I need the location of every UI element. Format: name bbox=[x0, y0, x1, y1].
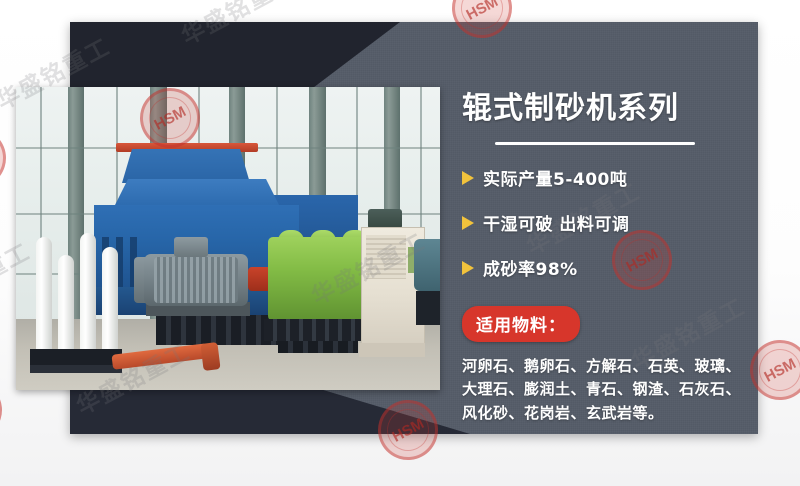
feature-item: 实际产量5-400吨 bbox=[462, 165, 752, 190]
feature-label: 实际产量5-400吨 bbox=[483, 165, 627, 190]
arrow-right-icon bbox=[462, 216, 474, 230]
right-motor-stand bbox=[416, 291, 440, 325]
title-divider bbox=[495, 142, 695, 145]
shaft-flange bbox=[200, 342, 220, 371]
accumulator-frame-lower bbox=[30, 365, 122, 373]
motor-cooling-fins bbox=[154, 257, 238, 303]
motor-terminal-box bbox=[174, 237, 208, 257]
watermark-seal: HSM bbox=[0, 369, 13, 450]
hydraulic-accumulator bbox=[36, 237, 52, 353]
arrow-right-icon bbox=[462, 261, 474, 275]
cabinet-plinth bbox=[359, 343, 425, 357]
product-info-column: 辊式制砂机系列 实际产量5-400吨 干湿可破 出料可调 成砂率98% 适用物料… bbox=[462, 92, 752, 425]
feature-item: 干湿可破 出料可调 bbox=[462, 210, 752, 235]
feature-label: 干湿可破 出料可调 bbox=[483, 210, 629, 235]
page-title: 辊式制砂机系列 bbox=[462, 92, 752, 125]
status-badge: 适用物料： bbox=[462, 306, 580, 342]
hydraulic-accumulator bbox=[102, 247, 118, 353]
watermark-text: 华盛铭重工 bbox=[389, 0, 515, 6]
feature-item: 成砂率98% bbox=[462, 255, 752, 280]
accumulator-frame bbox=[30, 349, 122, 365]
watermark-seal-label: HSM bbox=[761, 355, 798, 386]
cabinet-louvres bbox=[366, 235, 406, 279]
arrow-right-icon bbox=[462, 171, 474, 185]
watermark-seal-label: HSM bbox=[463, 0, 500, 23]
materials-list: 河卵石、鹅卵石、方解石、石英、玻璃、大理石、膨润土、青石、钢渣、石灰石、风化砂、… bbox=[462, 355, 748, 425]
hydraulic-accumulator bbox=[58, 255, 74, 353]
feed-hopper bbox=[122, 149, 250, 183]
promo-banner: 辊式制砂机系列 实际产量5-400吨 干湿可破 出料可调 成砂率98% 适用物料… bbox=[0, 0, 800, 486]
product-photo bbox=[16, 87, 440, 390]
right-motor bbox=[414, 239, 440, 291]
cabinet-top-unit bbox=[368, 209, 402, 229]
hydraulic-accumulator bbox=[80, 233, 96, 353]
feature-label: 成砂率98% bbox=[483, 255, 578, 280]
watermark-seal: HSM bbox=[0, 117, 17, 198]
